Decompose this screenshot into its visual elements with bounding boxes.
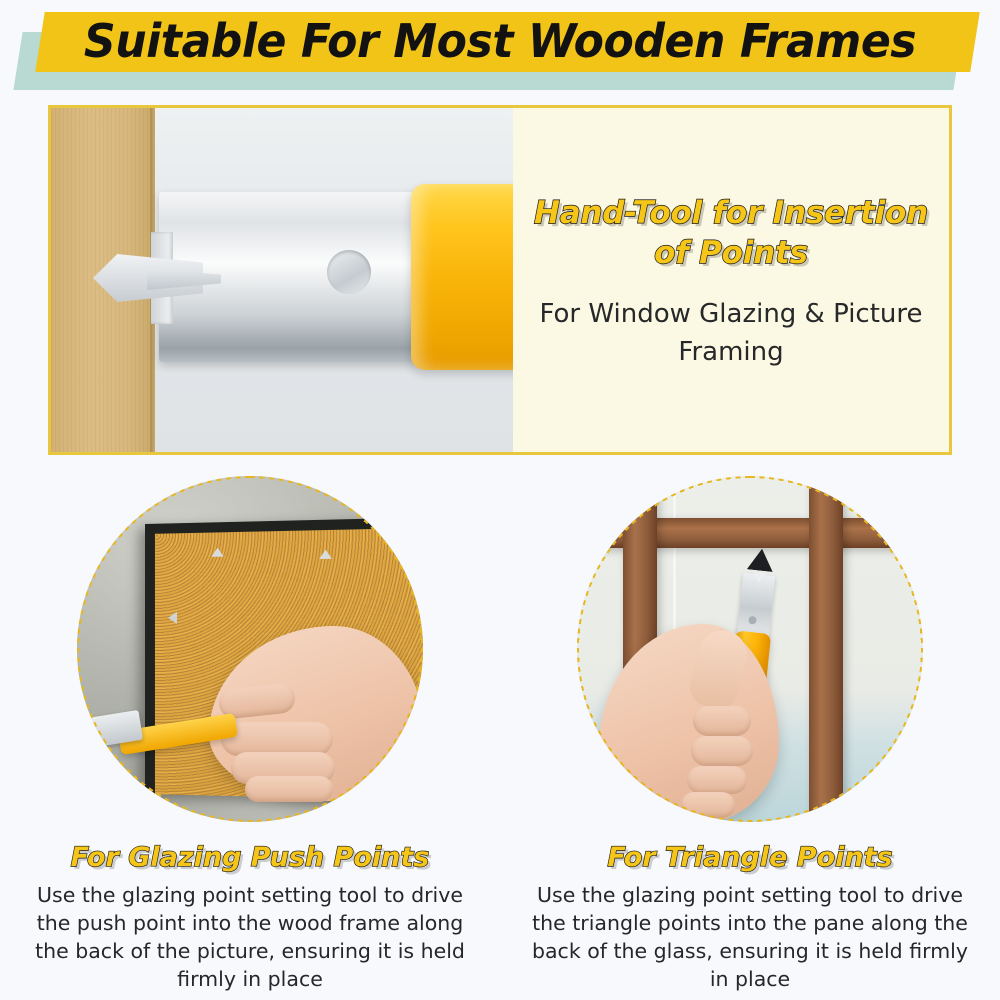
photo-push-point-in-frame bbox=[77, 476, 423, 822]
card-glazing-push-points: For Glazing Push Points Use the glazing … bbox=[0, 465, 500, 1000]
hero-headline: Hand-Tool for Insertion of Points bbox=[527, 193, 935, 273]
card-image-holder-right: EKOW bbox=[570, 465, 930, 825]
card-body: Use the glazing point setting tool to dr… bbox=[530, 881, 970, 993]
card-body: Use the glazing point setting tool to dr… bbox=[30, 881, 470, 993]
card-title: For Triangle Points bbox=[607, 841, 892, 875]
card-triangle-points: EKOW For Tri bbox=[500, 465, 1000, 1000]
hero-subcopy: For Window Glazing & Picture Framing bbox=[527, 295, 935, 371]
header-banner: Suitable For Most Wooden Frames bbox=[0, 0, 1000, 100]
circle-dotted-border bbox=[577, 476, 923, 822]
hero-panel: Hand-Tool for Insertion of Points For Wi… bbox=[48, 105, 952, 455]
hero-copy: Hand-Tool for Insertion of Points For Wi… bbox=[513, 108, 949, 452]
card-image-holder-left bbox=[70, 465, 430, 825]
card-title: For Glazing Push Points bbox=[71, 841, 430, 875]
photo-triangle-point-in-window: EKOW bbox=[577, 476, 923, 822]
page-title: Suitable For Most Wooden Frames bbox=[20, 10, 980, 72]
product-infographic: Suitable For Most Wooden Frames Hand-Too… bbox=[0, 0, 1000, 1000]
tool-yellow-handle bbox=[411, 184, 513, 370]
feature-cards: For Glazing Push Points Use the glazing … bbox=[0, 465, 1000, 1000]
hero-photo-tool-closeup bbox=[51, 108, 513, 452]
circle-dotted-border bbox=[77, 476, 423, 822]
